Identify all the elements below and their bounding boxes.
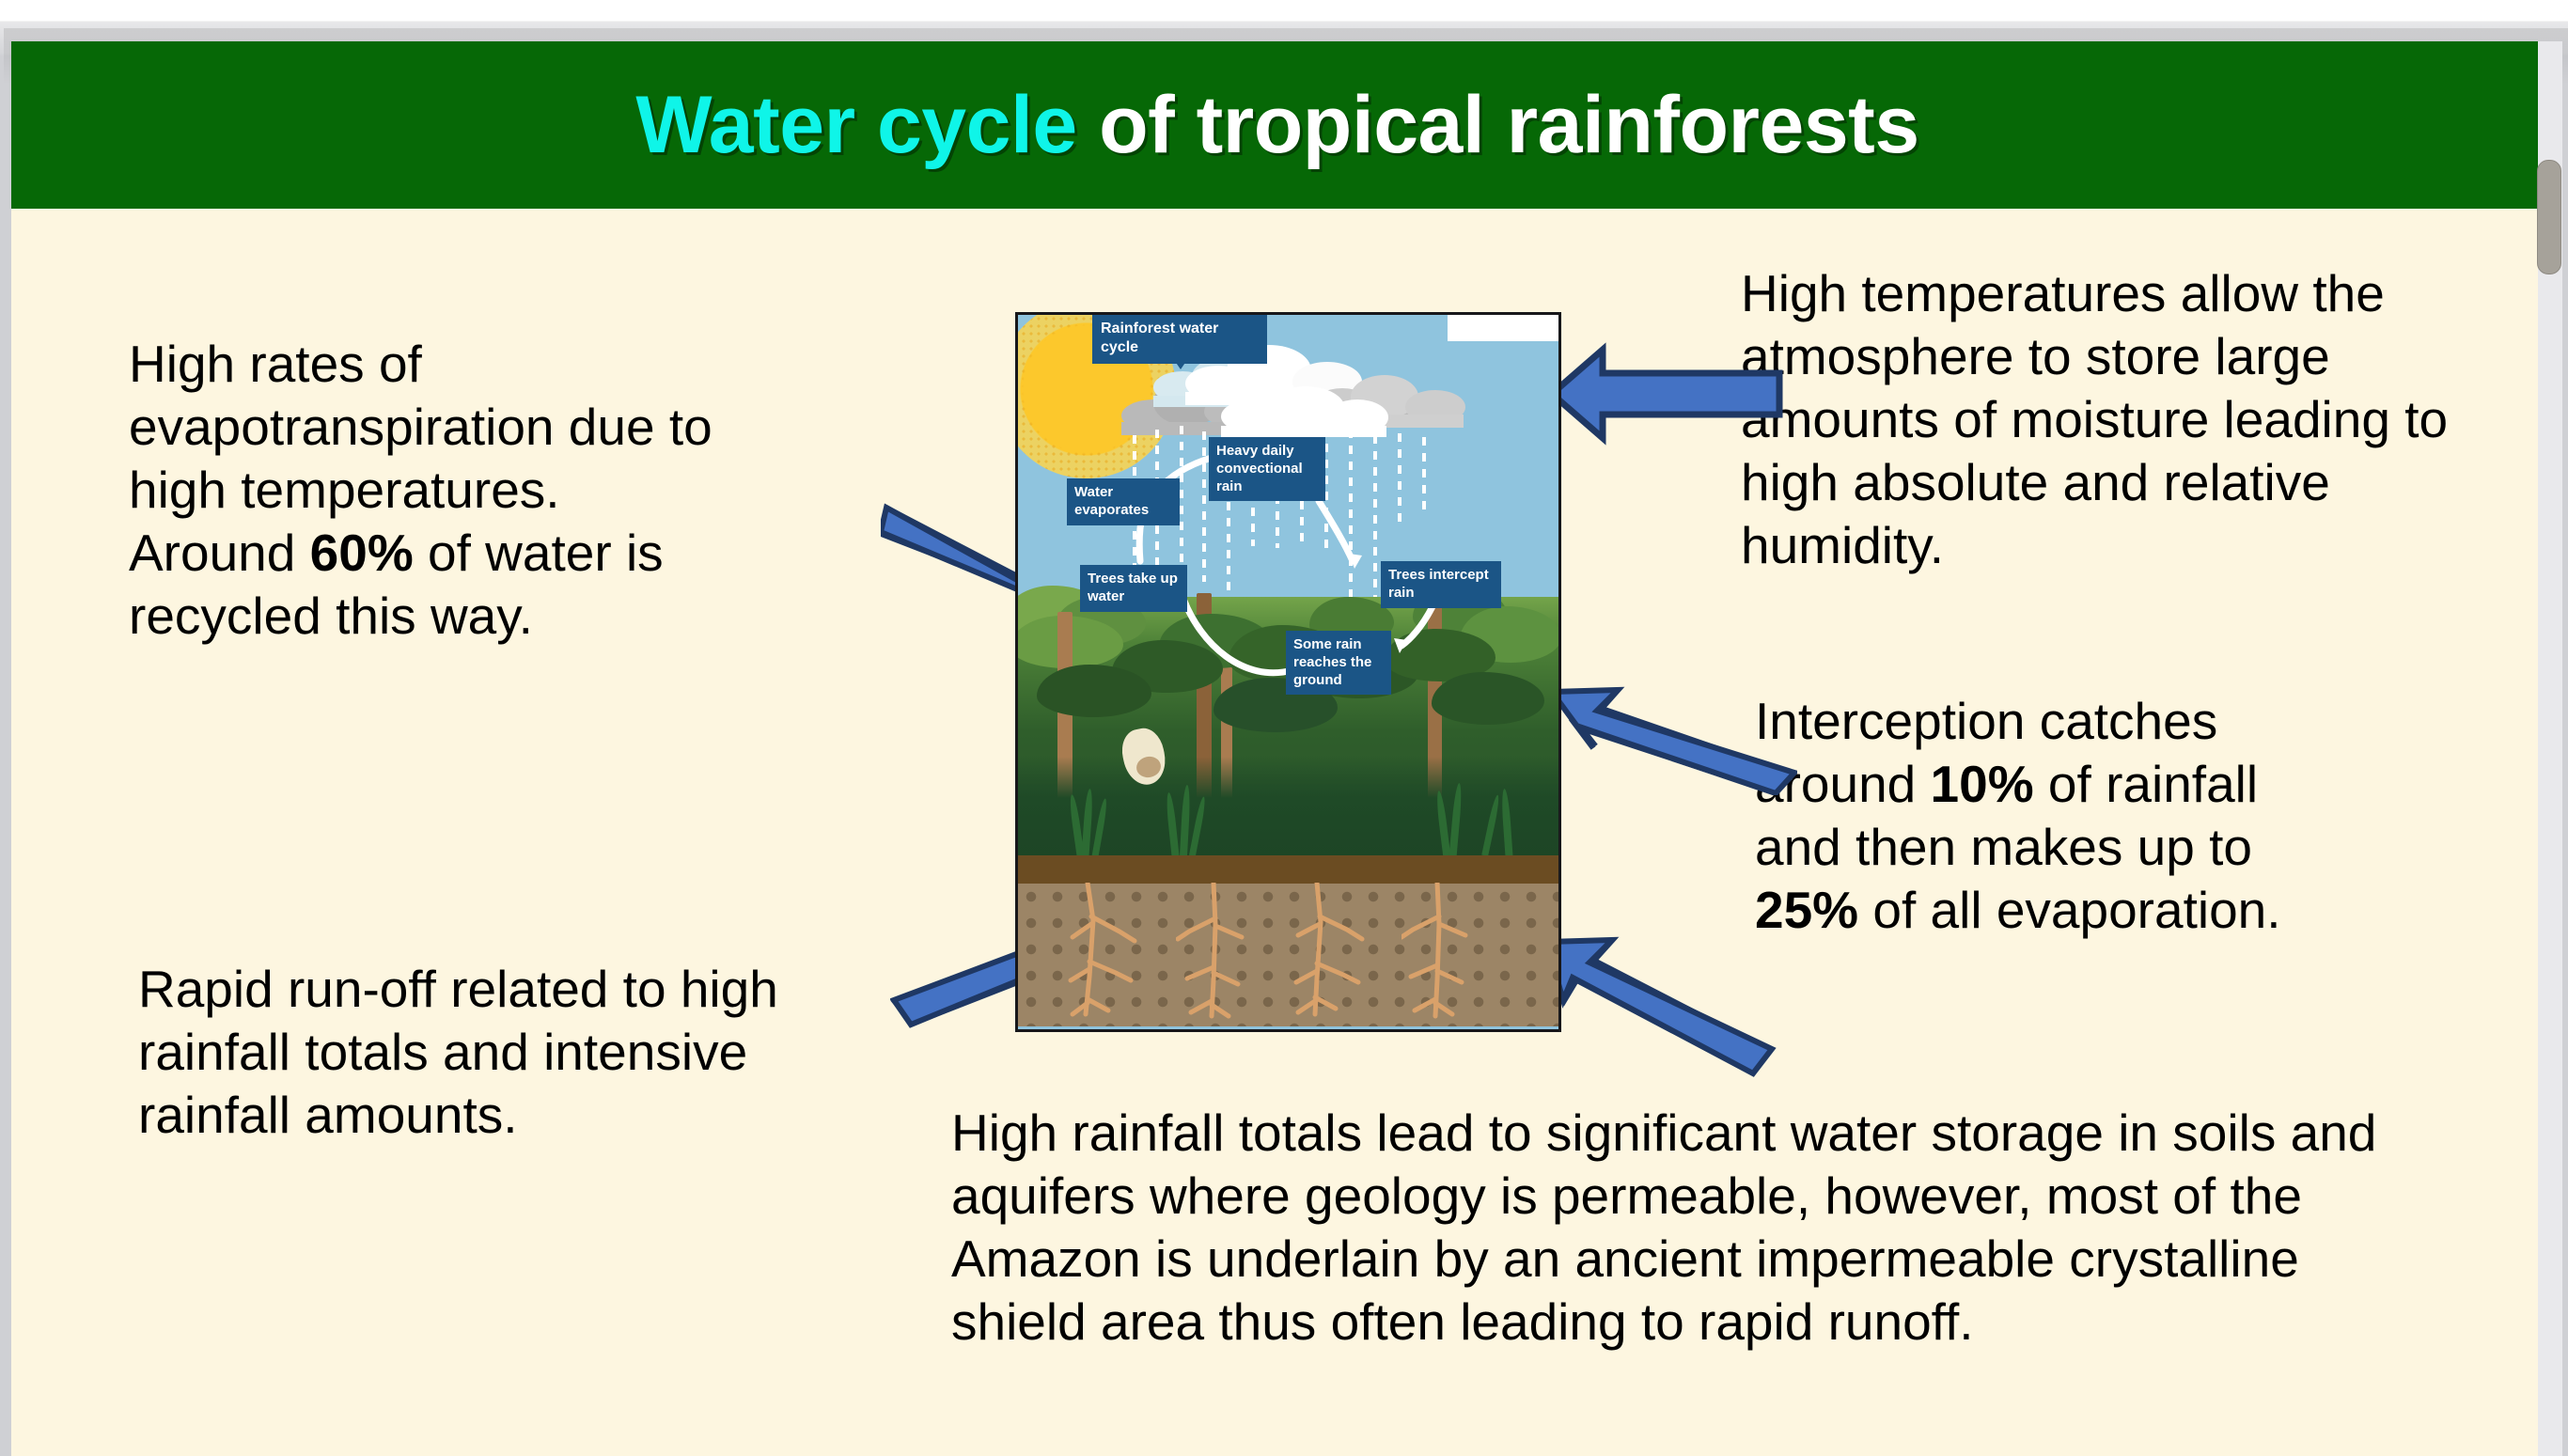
page-title-accent: Water cycle: [635, 80, 1076, 170]
slide-canvas: Water cycle of tropical rainforests High…: [11, 41, 2560, 1456]
window-frame: Water cycle of tropical rainforests High…: [0, 0, 2568, 1456]
diagram-title-label-tail: [1170, 354, 1191, 369]
callout-line: high temperatures.: [129, 461, 560, 519]
diagram-label-convectional-rain: Heavy daily convectional rain: [1209, 437, 1325, 501]
diagram-label-some-rain-reaches-ground: Some rain reaches the ground: [1286, 631, 1391, 695]
vertical-scrollbar-thumb[interactable]: [2537, 160, 2561, 274]
rainforest-water-cycle-diagram: Rainforest water cycle Heavy daily conve…: [1015, 312, 1561, 1032]
callout-line: recycled this way.: [129, 587, 533, 645]
page-title-rest: of tropical rainforests: [1077, 80, 1919, 170]
diagram-label-trees-take-up-water: Trees take up water: [1080, 565, 1187, 612]
pointer-arrow-storage-icon: [1539, 887, 1807, 1080]
callout-line: and then makes up to: [1755, 818, 2252, 876]
callout-evapotranspiration: High rates of evapotranspiration due to …: [129, 333, 890, 648]
pointer-arrow-interception-icon: [1548, 673, 1797, 795]
callout-temperatures: High temperatures allow the atmosphere t…: [1741, 262, 2493, 577]
diagram-label-water-evaporates: Water evaporates: [1067, 478, 1180, 525]
callout-line: Interception catches: [1755, 692, 2217, 750]
callout-line: of all evaporation.: [1858, 881, 2280, 939]
callout-storage: High rainfall totals lead to significant…: [951, 1102, 2389, 1354]
callout-interception: Interception catches around 10% of rainf…: [1755, 690, 2469, 942]
callout-line: of rainfall: [2034, 755, 2258, 813]
callout-line: High rates of: [129, 335, 422, 393]
slide-title-banner: Water cycle of tropical rainforests: [11, 41, 2544, 209]
diagram-label-trees-intercept-rain: Trees intercept rain: [1381, 561, 1501, 608]
callout-line: evapotranspiration due to: [129, 398, 712, 456]
pointer-arrow-temperatures-icon: [1548, 342, 1783, 446]
callout-emphasis-60: 60%: [310, 524, 414, 582]
callout-line: Around: [129, 524, 310, 582]
callout-line: of water is: [414, 524, 664, 582]
callout-emphasis-10: 10%: [1931, 755, 2034, 813]
callout-runoff: Rapid run-off related to high rainfall t…: [138, 958, 881, 1147]
page-title: Water cycle of tropical rainforests: [635, 85, 1918, 165]
